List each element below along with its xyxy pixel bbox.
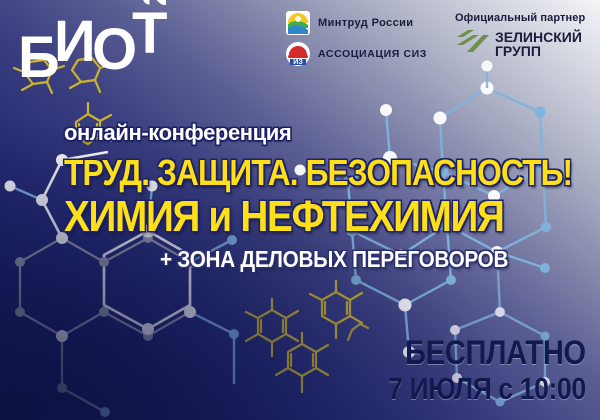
molecule-yellow-center-c	[276, 333, 328, 392]
molecule-node-top-right	[482, 61, 493, 89]
partner-mintrud-label: Минтруд России	[318, 17, 413, 29]
logo-letter-b: Б	[18, 34, 59, 82]
zelinsky-name-line2: ГРУПП	[495, 44, 582, 58]
subtitle-negotiation-zone: + ЗОНА ДЕЛОВЫХ ПЕРЕГОВОРОВ	[160, 246, 556, 273]
logo-letter-t: Т	[132, 10, 166, 58]
logo-year: 2021	[136, 0, 174, 6]
cta-date-time: 7 ИЮЛЯ с 10:00	[388, 373, 586, 406]
official-partner-caption: Официальный партнер	[455, 12, 595, 24]
zelinsky-chevrons-icon	[455, 27, 489, 60]
title-line-2: ХИМИЯ и НЕФТЕХИМИЯ	[64, 192, 536, 242]
partner-siz: ИЗ АССОЦИАЦИЯ СИЗ	[285, 41, 445, 67]
sun-field-icon	[285, 10, 311, 36]
logo-letter-o: О	[92, 26, 136, 74]
cta-price: БЕСПЛАТНО	[388, 335, 586, 371]
svg-text:ИЗ: ИЗ	[293, 59, 303, 66]
partner-logos-left: Минтруд России ИЗ АССОЦИАЦИЯ СИЗ	[285, 10, 445, 72]
molecule-yellow-center-b	[310, 281, 362, 338]
title-line-1: ТРУД. ЗАЩИТА. БЕЗОПАСНОСТЬ!	[64, 152, 536, 194]
kicker-online-conference: онлайн-конференция	[64, 120, 600, 146]
molecule-yellow-center-a	[246, 299, 298, 356]
hard-hat-icon: ИЗ	[285, 41, 311, 67]
cta-block: БЕСПЛАТНО 7 ИЮЛЯ с 10:00	[356, 335, 586, 406]
zelinsky-name-line1: ЗЕЛИНСКИЙ	[495, 30, 582, 44]
biot-logo: Б И О Т 2021	[16, 8, 206, 108]
headline-block: онлайн-конференция ТРУД. ЗАЩИТА. БЕЗОПАС…	[0, 120, 600, 273]
event-poster: .bl { stroke:#7fb4dd; stroke-width:2.4; …	[0, 0, 600, 420]
partner-mintrud: Минтруд России	[285, 10, 445, 36]
logo-letter-i: И	[54, 18, 95, 66]
partner-logo-right: Официальный партнер ЗЕЛИНСКИЙ ГРУПП	[455, 12, 595, 60]
partner-siz-label: АССОЦИАЦИЯ СИЗ	[318, 48, 427, 60]
